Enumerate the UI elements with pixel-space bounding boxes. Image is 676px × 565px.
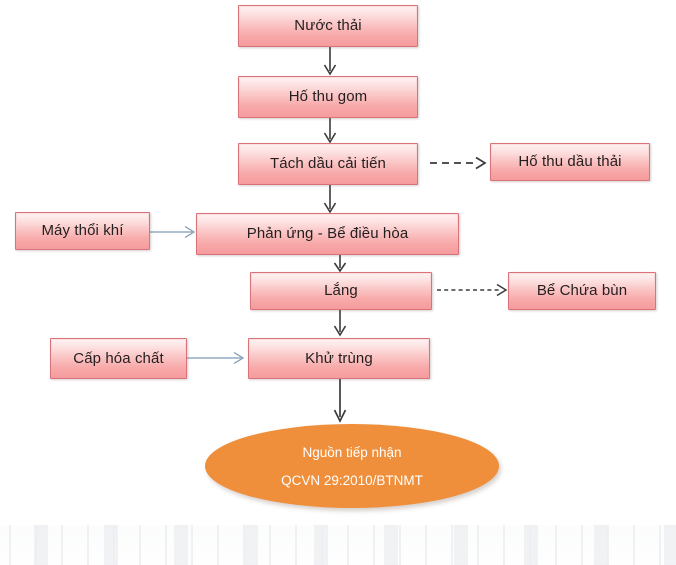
edge-lang-to-khu-trung xyxy=(330,310,350,340)
node-label: Nước thải xyxy=(294,17,361,34)
edge-ho-thu-gom-to-tach-dau xyxy=(320,118,340,145)
node-nguon-tiep-nhan[interactable]: Nguồn tiếp nhận QCVN 29:2010/BTNMT xyxy=(205,424,499,508)
node-label: Khử trùng xyxy=(305,350,373,367)
node-label: Phản ứng - Bể điều hòa xyxy=(247,225,409,242)
terminator-line-2: QCVN 29:2010/BTNMT xyxy=(281,473,423,488)
node-ho-thu-gom[interactable]: Hố thu gom xyxy=(238,76,418,118)
terminator-line-1: Nguồn tiếp nhận xyxy=(302,445,401,460)
node-lang[interactable]: Lắng xyxy=(250,272,432,310)
edge-khu-trung-to-nguon-tiep-nhan xyxy=(330,379,350,425)
node-phan-ung-be-dieu-hoa[interactable]: Phản ứng - Bể điều hòa xyxy=(196,213,459,255)
node-label: Cấp hóa chất xyxy=(73,350,163,367)
edge-tach-dau-to-phan-ung xyxy=(320,185,340,215)
node-be-chua-bun[interactable]: Bể Chứa bùn xyxy=(508,272,656,310)
node-nuoc-thai[interactable]: Nước thải xyxy=(238,5,418,47)
edge-lang-to-be-chua-bun xyxy=(437,281,513,301)
flowchart-canvas: Nước thải Hố thu gom Tách dầu cải tiến H… xyxy=(0,0,676,565)
node-cap-hoa-chat[interactable]: Cấp hóa chất xyxy=(50,338,187,379)
node-label: Bể Chứa bùn xyxy=(537,282,627,299)
node-label: Máy thổi khí xyxy=(41,222,123,239)
node-may-thoi-khi[interactable]: Máy thổi khí xyxy=(15,212,150,250)
node-label: Lắng xyxy=(324,282,358,299)
node-label: Tách dầu cải tiến xyxy=(270,155,386,172)
edge-may-thoi-khi-to-phan-ung xyxy=(150,223,200,243)
node-label: Hố thu dầu thải xyxy=(518,153,621,170)
node-tach-dau-cai-tien[interactable]: Tách dầu cải tiến xyxy=(238,143,418,185)
edge-cap-hoa-chat-to-khu-trung xyxy=(187,349,251,369)
node-khu-trung[interactable]: Khử trùng xyxy=(248,338,430,379)
edge-nuoc-thai-to-ho-thu-gom xyxy=(320,47,340,77)
node-ho-thu-dau-thai[interactable]: Hố thu dầu thải xyxy=(490,143,650,181)
background-watermark xyxy=(0,525,676,565)
edge-tach-dau-to-ho-thu-dau-thai xyxy=(430,154,492,174)
node-label: Hố thu gom xyxy=(289,88,368,105)
